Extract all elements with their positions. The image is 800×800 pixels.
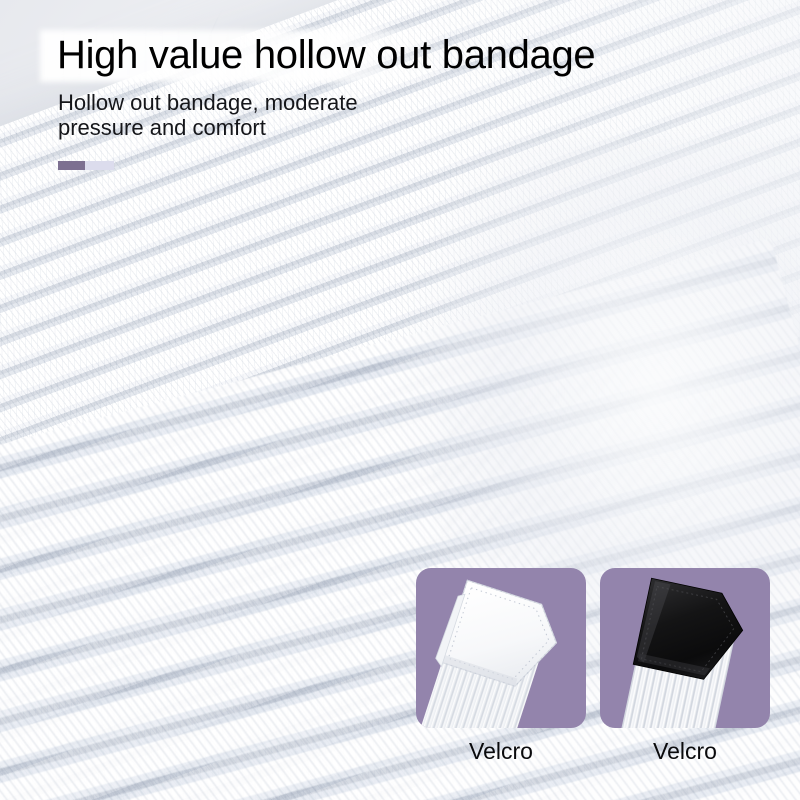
inset-card-black-velcro[interactable]: [600, 568, 770, 728]
inset-label-black-velcro: Velcro: [600, 738, 770, 765]
page-title: High value hollow out bandage: [57, 31, 595, 79]
black-velcro-illustration: [600, 568, 770, 728]
white-velcro-illustration: [416, 568, 586, 728]
subtitle-line-2: pressure and comfort: [58, 115, 458, 140]
inset-label-white-velcro: Velcro: [416, 738, 586, 765]
page-subtitle: Hollow out bandage, moderate pressure an…: [58, 90, 458, 140]
accent-bar-segment-light: [85, 161, 114, 170]
detail-inset-group: Velcro Velcro: [416, 568, 766, 780]
accent-bar: [58, 161, 114, 170]
subtitle-line-1: Hollow out bandage, moderate: [58, 90, 458, 115]
accent-bar-segment-dark: [58, 161, 85, 170]
product-banner: High value hollow out bandage Hollow out…: [0, 0, 800, 800]
inset-card-white-velcro[interactable]: [416, 568, 586, 728]
